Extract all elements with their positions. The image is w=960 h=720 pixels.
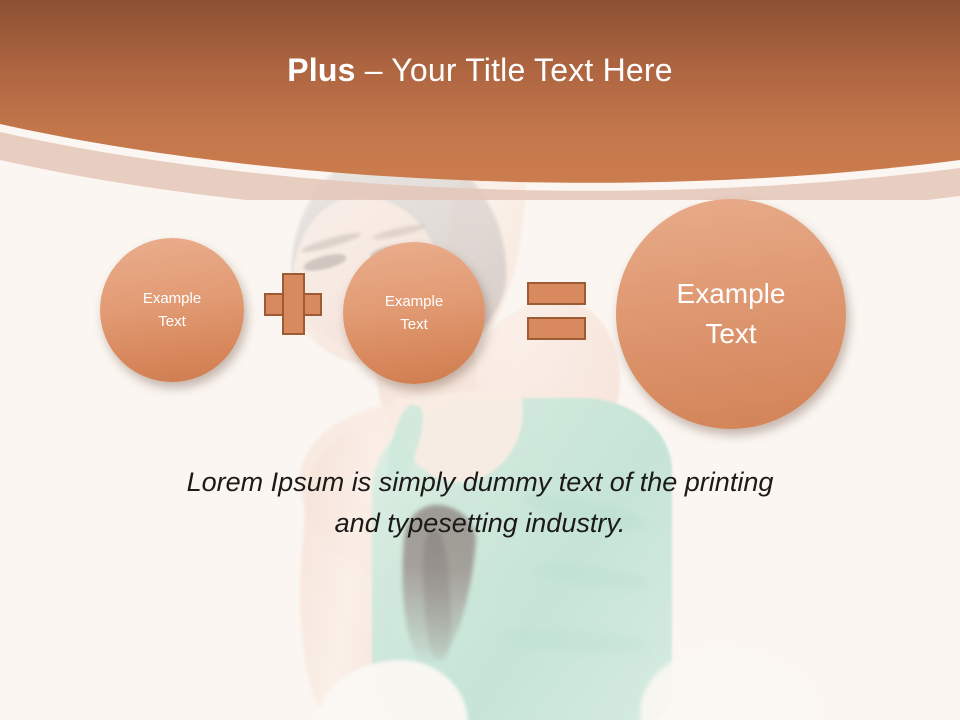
page-title-separator: – [356,52,392,88]
diagram-node-term-1[interactable]: Example Text [100,238,244,382]
diagram-node-term-2[interactable]: Example Text [343,242,485,384]
diagram-node-term-2-label-line1: Example [385,290,443,313]
page-title: Plus – Your Title Text Here [0,50,960,90]
body-paragraph-line-2: and typesetting industry. [80,503,880,544]
body-paragraph-line-1: Lorem Ipsum is simply dummy text of the … [80,462,880,503]
diagram-node-term-1-label-line2: Text [143,310,201,333]
diagram-node-term-1-label-line1: Example [143,287,201,310]
equals-icon-top-bar [527,282,586,305]
diagram-node-result-label-line2: Text [677,314,786,354]
diagram-node-result-label: Example Text [677,274,786,354]
plus-icon-center-patch [284,295,303,314]
equals-icon [527,282,586,340]
page-title-bold: Plus [287,52,355,88]
diagram-node-result-label-line1: Example [677,274,786,314]
diagram-node-term-1-label: Example Text [143,287,201,333]
diagram-node-term-2-label: Example Text [385,290,443,336]
plus-icon [264,273,322,335]
page-title-rest: Your Title Text Here [391,52,672,88]
slide-canvas: Plus – Your Title Text Here Example Text… [0,0,960,720]
body-paragraph: Lorem Ipsum is simply dummy text of the … [80,462,880,544]
diagram-node-term-2-label-line2: Text [385,313,443,336]
equals-icon-bottom-bar [527,317,586,340]
diagram-node-result[interactable]: Example Text [616,199,846,429]
